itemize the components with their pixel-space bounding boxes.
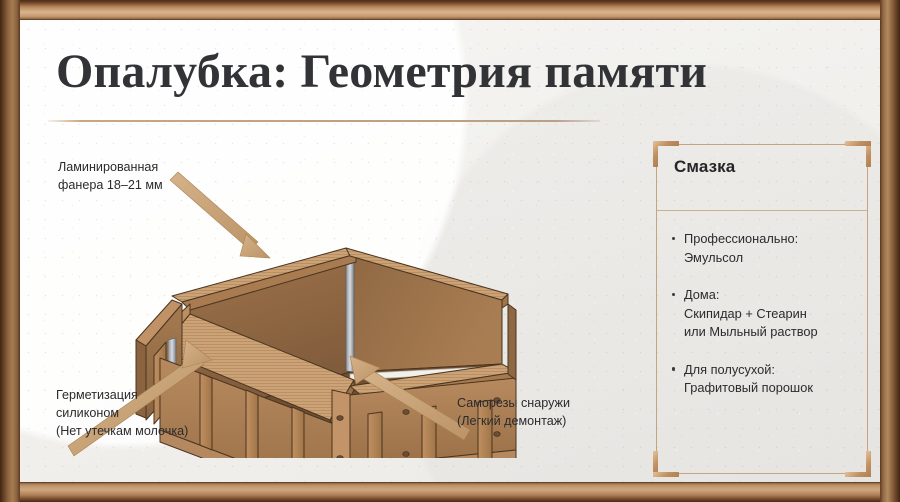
frame-top (0, 0, 900, 20)
frame-right (880, 0, 900, 502)
frame-left (0, 0, 20, 502)
frame-bottom (0, 482, 900, 502)
slide-root: Опалубка: Геометрия памяти (0, 0, 900, 502)
frame-inner-line (19, 19, 881, 483)
